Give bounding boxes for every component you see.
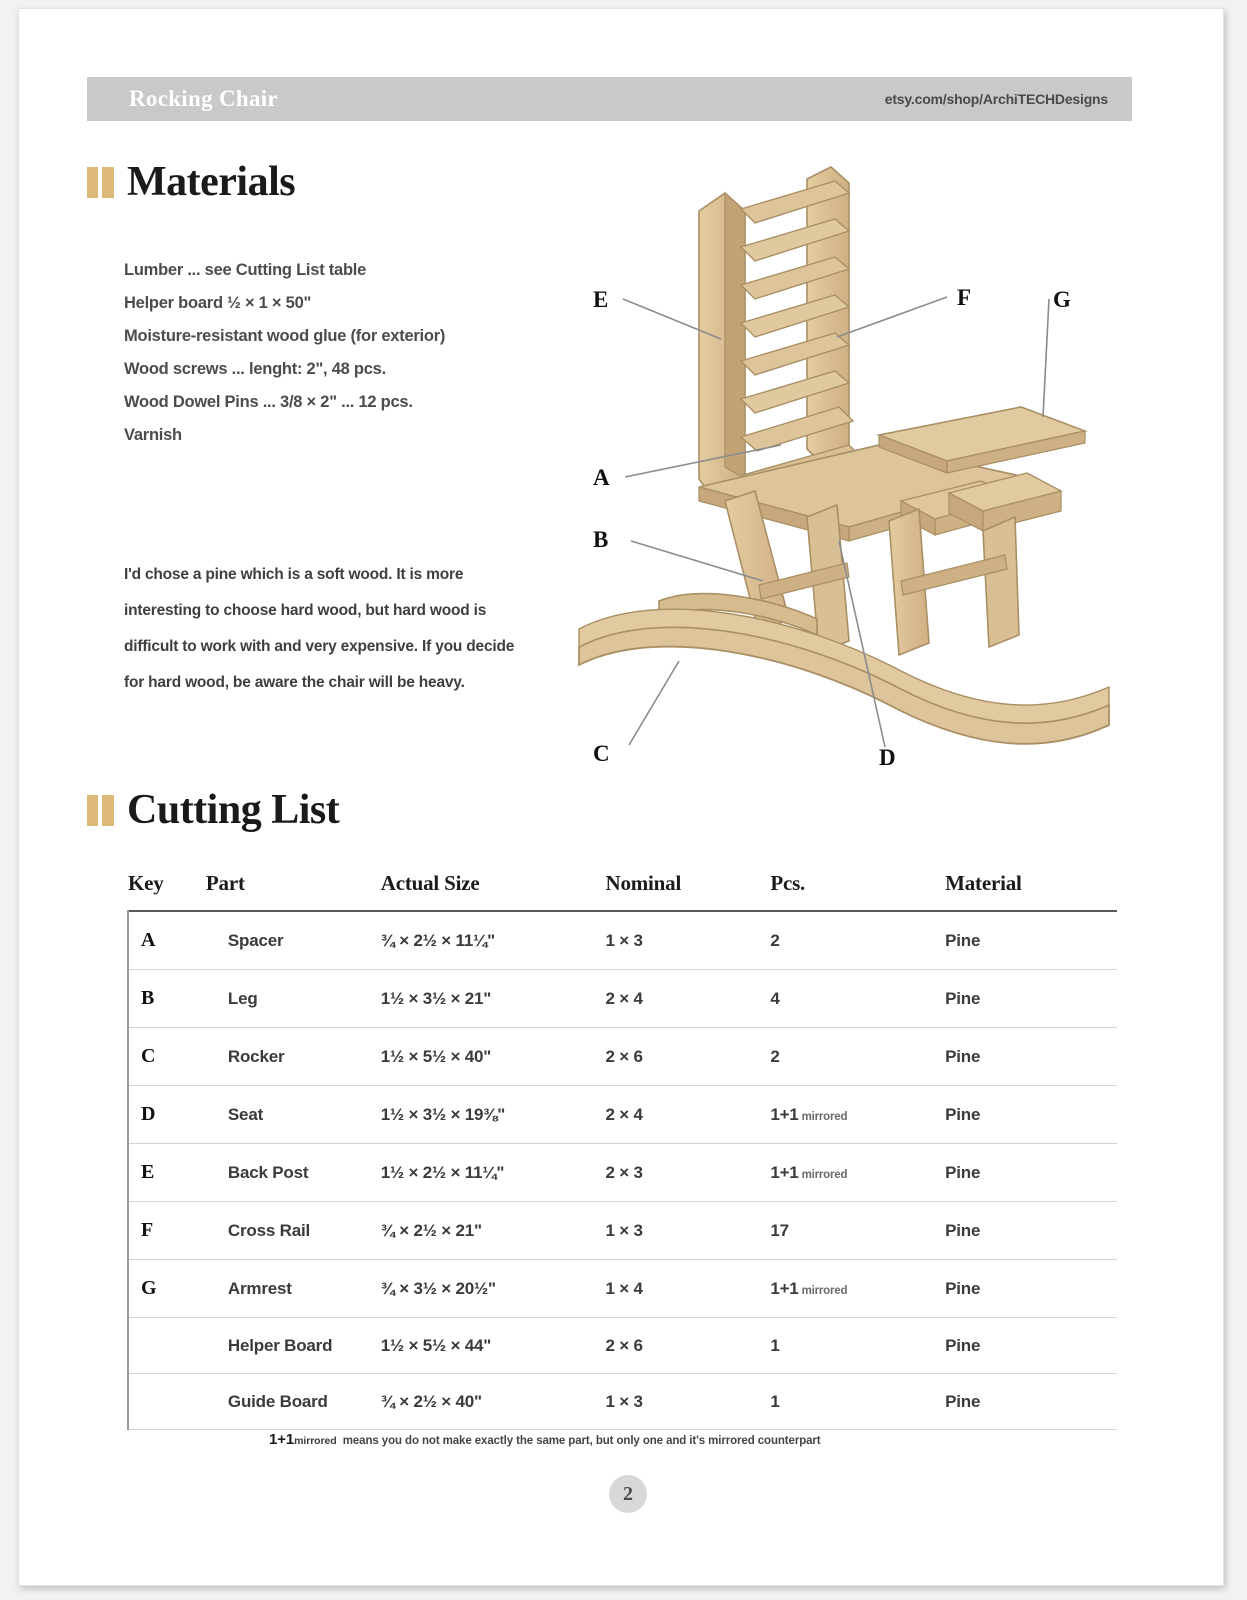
- cell-actual-size: 1½ × 2½ × 11¼": [381, 1144, 606, 1202]
- leader-G: [1043, 299, 1049, 417]
- section-heading-cutting-list: Cutting List: [87, 789, 339, 831]
- cell-key: [128, 1374, 206, 1430]
- cell-actual-size: 1½ × 3½ × 21": [381, 970, 606, 1028]
- footnote-text: means you do not make exactly the same p…: [343, 1435, 821, 1447]
- cell-part: Helper Board: [206, 1318, 381, 1374]
- column-header-nominal: Nominal: [605, 865, 770, 911]
- mirrored-note: mirrored: [799, 1285, 848, 1297]
- cell-part: Armrest: [206, 1260, 381, 1318]
- materials-list-item: Wood Dowel Pins ... 3/8 × 2" ... 12 pcs.: [124, 386, 554, 419]
- cell-material: Pine: [945, 970, 1117, 1028]
- shop-url: etsy.com/shop/ArchiTECHDesigns: [885, 91, 1108, 107]
- cell-pcs: 2: [770, 1028, 945, 1086]
- cell-actual-size: ¾ × 3½ × 20½": [381, 1260, 606, 1318]
- cell-material: Pine: [945, 911, 1117, 970]
- footnote-lead: 1+1: [269, 1431, 294, 1448]
- callout-label-G: G: [1053, 287, 1071, 312]
- footnote-sub: mirrored: [294, 1435, 336, 1447]
- table-row: Guide Board¾ × 2½ × 40"1 × 31Pine: [128, 1374, 1117, 1430]
- cell-part: Cross Rail: [206, 1202, 381, 1260]
- column-header-part: Part: [206, 865, 381, 911]
- column-header-pcs: Pcs.: [770, 865, 945, 911]
- cutting-list-table: Key Part Actual Size Nominal Pcs. Materi…: [127, 865, 1117, 1430]
- cell-material: Pine: [945, 1374, 1117, 1430]
- table-row: CRocker1½ × 5½ × 40"2 × 62Pine: [128, 1028, 1117, 1086]
- table-row: DSeat1½ × 3½ × 19⅜"2 × 41+1 mirroredPine: [128, 1086, 1117, 1144]
- rocking-chair-illustration: E F G A B C D: [549, 149, 1149, 779]
- cell-nominal: 1 × 3: [605, 1202, 770, 1260]
- column-header-material: Material: [945, 865, 1117, 911]
- cell-material: Pine: [945, 1028, 1117, 1086]
- cell-actual-size: ¾ × 2½ × 11¼": [381, 911, 606, 970]
- cell-part: Leg: [206, 970, 381, 1028]
- leader-F: [837, 297, 947, 337]
- table-row: FCross Rail¾ × 2½ × 21"1 × 317Pine: [128, 1202, 1117, 1260]
- mirrored-note: mirrored: [799, 1169, 848, 1181]
- callout-label-D: D: [879, 745, 896, 770]
- table-row: Helper Board1½ × 5½ × 44"2 × 61Pine: [128, 1318, 1117, 1374]
- document-title: Rocking Chair: [129, 86, 278, 112]
- cell-key: E: [128, 1144, 206, 1202]
- cell-pcs: 1+1 mirrored: [770, 1144, 945, 1202]
- cell-nominal: 2 × 6: [605, 1318, 770, 1374]
- cell-pcs: 1: [770, 1374, 945, 1430]
- document-header: Rocking Chair etsy.com/shop/ArchiTECHDes…: [87, 77, 1132, 121]
- document-page: Rocking Chair etsy.com/shop/ArchiTECHDes…: [18, 8, 1224, 1586]
- cell-nominal: 1 × 3: [605, 1374, 770, 1430]
- cell-pcs: 17: [770, 1202, 945, 1260]
- cell-nominal: 1 × 3: [605, 911, 770, 970]
- column-header-key: Key: [128, 865, 206, 911]
- table-row: ASpacer¾ × 2½ × 11¼"1 × 32Pine: [128, 911, 1117, 970]
- cell-part: Rocker: [206, 1028, 381, 1086]
- page-number-badge: 2: [609, 1475, 647, 1513]
- cell-key: C: [128, 1028, 206, 1086]
- cell-actual-size: 1½ × 3½ × 19⅜": [381, 1086, 606, 1144]
- section-heading-materials: Materials: [87, 161, 295, 203]
- table-body: ASpacer¾ × 2½ × 11¼"1 × 32PineBLeg1½ × 3…: [128, 911, 1117, 1430]
- cell-pcs: 1+1 mirrored: [770, 1260, 945, 1318]
- cell-actual-size: 1½ × 5½ × 44": [381, 1318, 606, 1374]
- cell-material: Pine: [945, 1144, 1117, 1202]
- column-header-size: Actual Size: [381, 865, 606, 911]
- callout-label-A: A: [593, 465, 610, 490]
- cell-key: [128, 1318, 206, 1374]
- table-row: GArmrest¾ × 3½ × 20½"1 × 41+1 mirroredPi…: [128, 1260, 1117, 1318]
- table-header-row: Key Part Actual Size Nominal Pcs. Materi…: [128, 865, 1117, 911]
- materials-list-item: Wood screws ... lenght: 2", 48 pcs.: [124, 353, 554, 386]
- cell-part: Seat: [206, 1086, 381, 1144]
- materials-list-item: Lumber ... see Cutting List table: [124, 254, 554, 287]
- cell-nominal: 2 × 4: [605, 970, 770, 1028]
- table-row: EBack Post1½ × 2½ × 11¼"2 × 31+1 mirrore…: [128, 1144, 1117, 1202]
- table-footnote: 1+1mirrored means you do not make exactl…: [269, 1431, 1059, 1448]
- table-row: BLeg1½ × 3½ × 21"2 × 44Pine: [128, 970, 1117, 1028]
- cell-material: Pine: [945, 1318, 1117, 1374]
- wood-choice-note: I'd chose a pine which is a soft wood. I…: [124, 557, 524, 701]
- chair-drawing: [579, 167, 1109, 744]
- cell-part: Spacer: [206, 911, 381, 970]
- cell-nominal: 2 × 4: [605, 1086, 770, 1144]
- materials-heading-label: Materials: [127, 161, 295, 203]
- materials-list-item: Varnish: [124, 419, 554, 452]
- cell-pcs: 4: [770, 970, 945, 1028]
- callout-label-E: E: [593, 287, 608, 312]
- cell-key: D: [128, 1086, 206, 1144]
- materials-list: Lumber ... see Cutting List table Helper…: [124, 254, 554, 452]
- callout-label-B: B: [593, 527, 608, 552]
- cell-part: Guide Board: [206, 1374, 381, 1430]
- mirrored-note: mirrored: [799, 1111, 848, 1123]
- cell-actual-size: ¾ × 2½ × 40": [381, 1374, 606, 1430]
- cell-material: Pine: [945, 1086, 1117, 1144]
- table-head: Key Part Actual Size Nominal Pcs. Materi…: [128, 865, 1117, 911]
- cell-actual-size: ¾ × 2½ × 21": [381, 1202, 606, 1260]
- cell-material: Pine: [945, 1260, 1117, 1318]
- cell-key: B: [128, 970, 206, 1028]
- materials-list-item: Moisture-resistant wood glue (for exteri…: [124, 320, 554, 353]
- cell-pcs: 1: [770, 1318, 945, 1374]
- cutting-list-heading-label: Cutting List: [127, 789, 339, 831]
- leader-C: [629, 661, 679, 745]
- cell-nominal: 1 × 4: [605, 1260, 770, 1318]
- cell-nominal: 2 × 3: [605, 1144, 770, 1202]
- cell-key: A: [128, 911, 206, 970]
- cell-nominal: 2 × 6: [605, 1028, 770, 1086]
- cell-pcs: 1+1 mirrored: [770, 1086, 945, 1144]
- callout-label-F: F: [957, 285, 971, 310]
- cell-pcs: 2: [770, 911, 945, 970]
- double-bar-icon: [87, 795, 114, 826]
- materials-list-item: Helper board ½ × 1 × 50": [124, 287, 554, 320]
- cell-material: Pine: [945, 1202, 1117, 1260]
- double-bar-icon: [87, 167, 114, 198]
- cell-actual-size: 1½ × 5½ × 40": [381, 1028, 606, 1086]
- callout-label-C: C: [593, 741, 610, 766]
- cell-key: F: [128, 1202, 206, 1260]
- leader-D: [839, 541, 885, 747]
- cell-key: G: [128, 1260, 206, 1318]
- cell-part: Back Post: [206, 1144, 381, 1202]
